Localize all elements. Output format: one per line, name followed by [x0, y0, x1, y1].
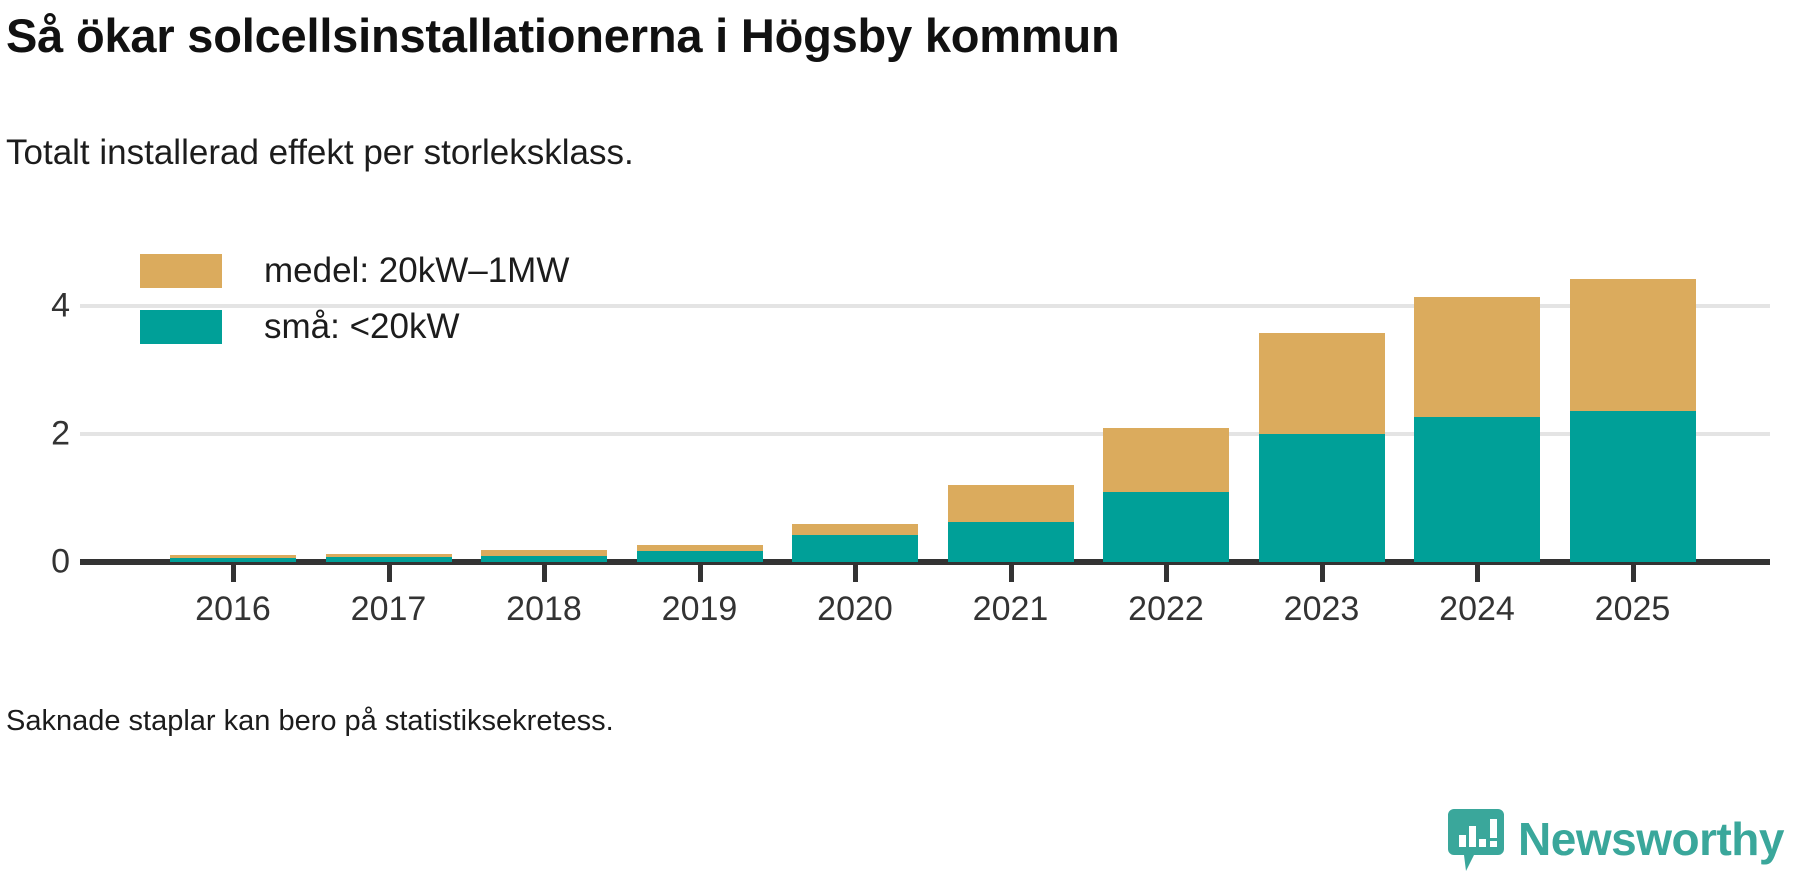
bar-segment-medium-2022[interactable]: [1103, 428, 1229, 492]
bar-chart-plot-area: 0242016201720182019202020212022202320242…: [0, 0, 1800, 879]
x-axis-tick-label-2016: 2016: [153, 590, 313, 629]
legend-swatch-small: [140, 310, 222, 344]
y-axis-tick-label-4: 4: [10, 287, 70, 326]
x-axis-tick-label-2022: 2022: [1086, 590, 1246, 629]
x-axis-tickmark-2017: [387, 565, 392, 582]
x-axis-tick-label-2017: 2017: [309, 590, 469, 629]
chart-legend: medel: 20kW–1MW små: <20kW: [140, 243, 569, 355]
x-axis-tick-label-2021: 2021: [931, 590, 1091, 629]
bar-segment-medium-2020[interactable]: [792, 524, 918, 536]
legend-swatch-medium: [140, 254, 222, 288]
newsworthy-logo[interactable]: Newsworthy: [1448, 809, 1784, 869]
y-axis-tick-label-2: 2: [10, 415, 70, 454]
bar-segment-medium-2023[interactable]: [1259, 333, 1385, 434]
x-axis-tick-label-2020: 2020: [775, 590, 935, 629]
x-axis-tickmark-2024: [1475, 565, 1480, 582]
bar-segment-medium-2019[interactable]: [637, 545, 763, 551]
legend-item-medium[interactable]: medel: 20kW–1MW: [140, 243, 569, 299]
x-axis-tickmark-2025: [1631, 565, 1636, 582]
x-axis-tickmark-2020: [853, 565, 858, 582]
x-axis-tick-label-2023: 2023: [1242, 590, 1402, 629]
legend-label-medium: medel: 20kW–1MW: [264, 251, 569, 291]
bar-segment-medium-2018[interactable]: [481, 550, 607, 555]
x-axis-tickmark-2023: [1320, 565, 1325, 582]
legend-label-small: små: <20kW: [264, 307, 459, 347]
y-axis-tick-label-0: 0: [10, 543, 70, 582]
bar-segment-small-2023[interactable]: [1259, 434, 1385, 562]
bar-segment-small-2019[interactable]: [637, 551, 763, 562]
bar-segment-medium-2025[interactable]: [1570, 279, 1696, 411]
x-axis-tickmark-2021: [1009, 565, 1014, 582]
newsworthy-bar-chart-bubble-icon: [1448, 809, 1504, 869]
bar-segment-medium-2017[interactable]: [326, 554, 452, 557]
chart-footnote: Saknade staplar kan bero på statistiksek…: [6, 705, 614, 738]
bar-segment-medium-2024[interactable]: [1414, 297, 1540, 417]
bar-segment-small-2021[interactable]: [948, 522, 1074, 562]
bar-segment-small-2024[interactable]: [1414, 417, 1540, 562]
x-axis-tick-label-2019: 2019: [620, 590, 780, 629]
x-axis-tickmark-2019: [698, 565, 703, 582]
newsworthy-wordmark: Newsworthy: [1518, 812, 1784, 866]
x-axis-tick-label-2024: 2024: [1397, 590, 1557, 629]
bar-segment-medium-2016[interactable]: [170, 555, 296, 558]
bar-segment-small-2022[interactable]: [1103, 492, 1229, 562]
x-axis-tick-label-2018: 2018: [464, 590, 624, 629]
chart-page: Så ökar solcellsinstallationerna i Högsb…: [0, 0, 1800, 879]
bar-segment-small-2025[interactable]: [1570, 411, 1696, 562]
bar-segment-small-2017[interactable]: [326, 557, 452, 562]
bar-segment-small-2020[interactable]: [792, 535, 918, 562]
x-axis-tick-label-2025: 2025: [1553, 590, 1713, 629]
legend-item-small[interactable]: små: <20kW: [140, 299, 569, 355]
bar-segment-small-2016[interactable]: [170, 558, 296, 562]
bar-segment-small-2018[interactable]: [481, 556, 607, 562]
x-axis-tickmark-2022: [1164, 565, 1169, 582]
x-axis-tickmark-2018: [542, 565, 547, 582]
bar-segment-medium-2021[interactable]: [948, 485, 1074, 522]
x-axis-tickmark-2016: [231, 565, 236, 582]
